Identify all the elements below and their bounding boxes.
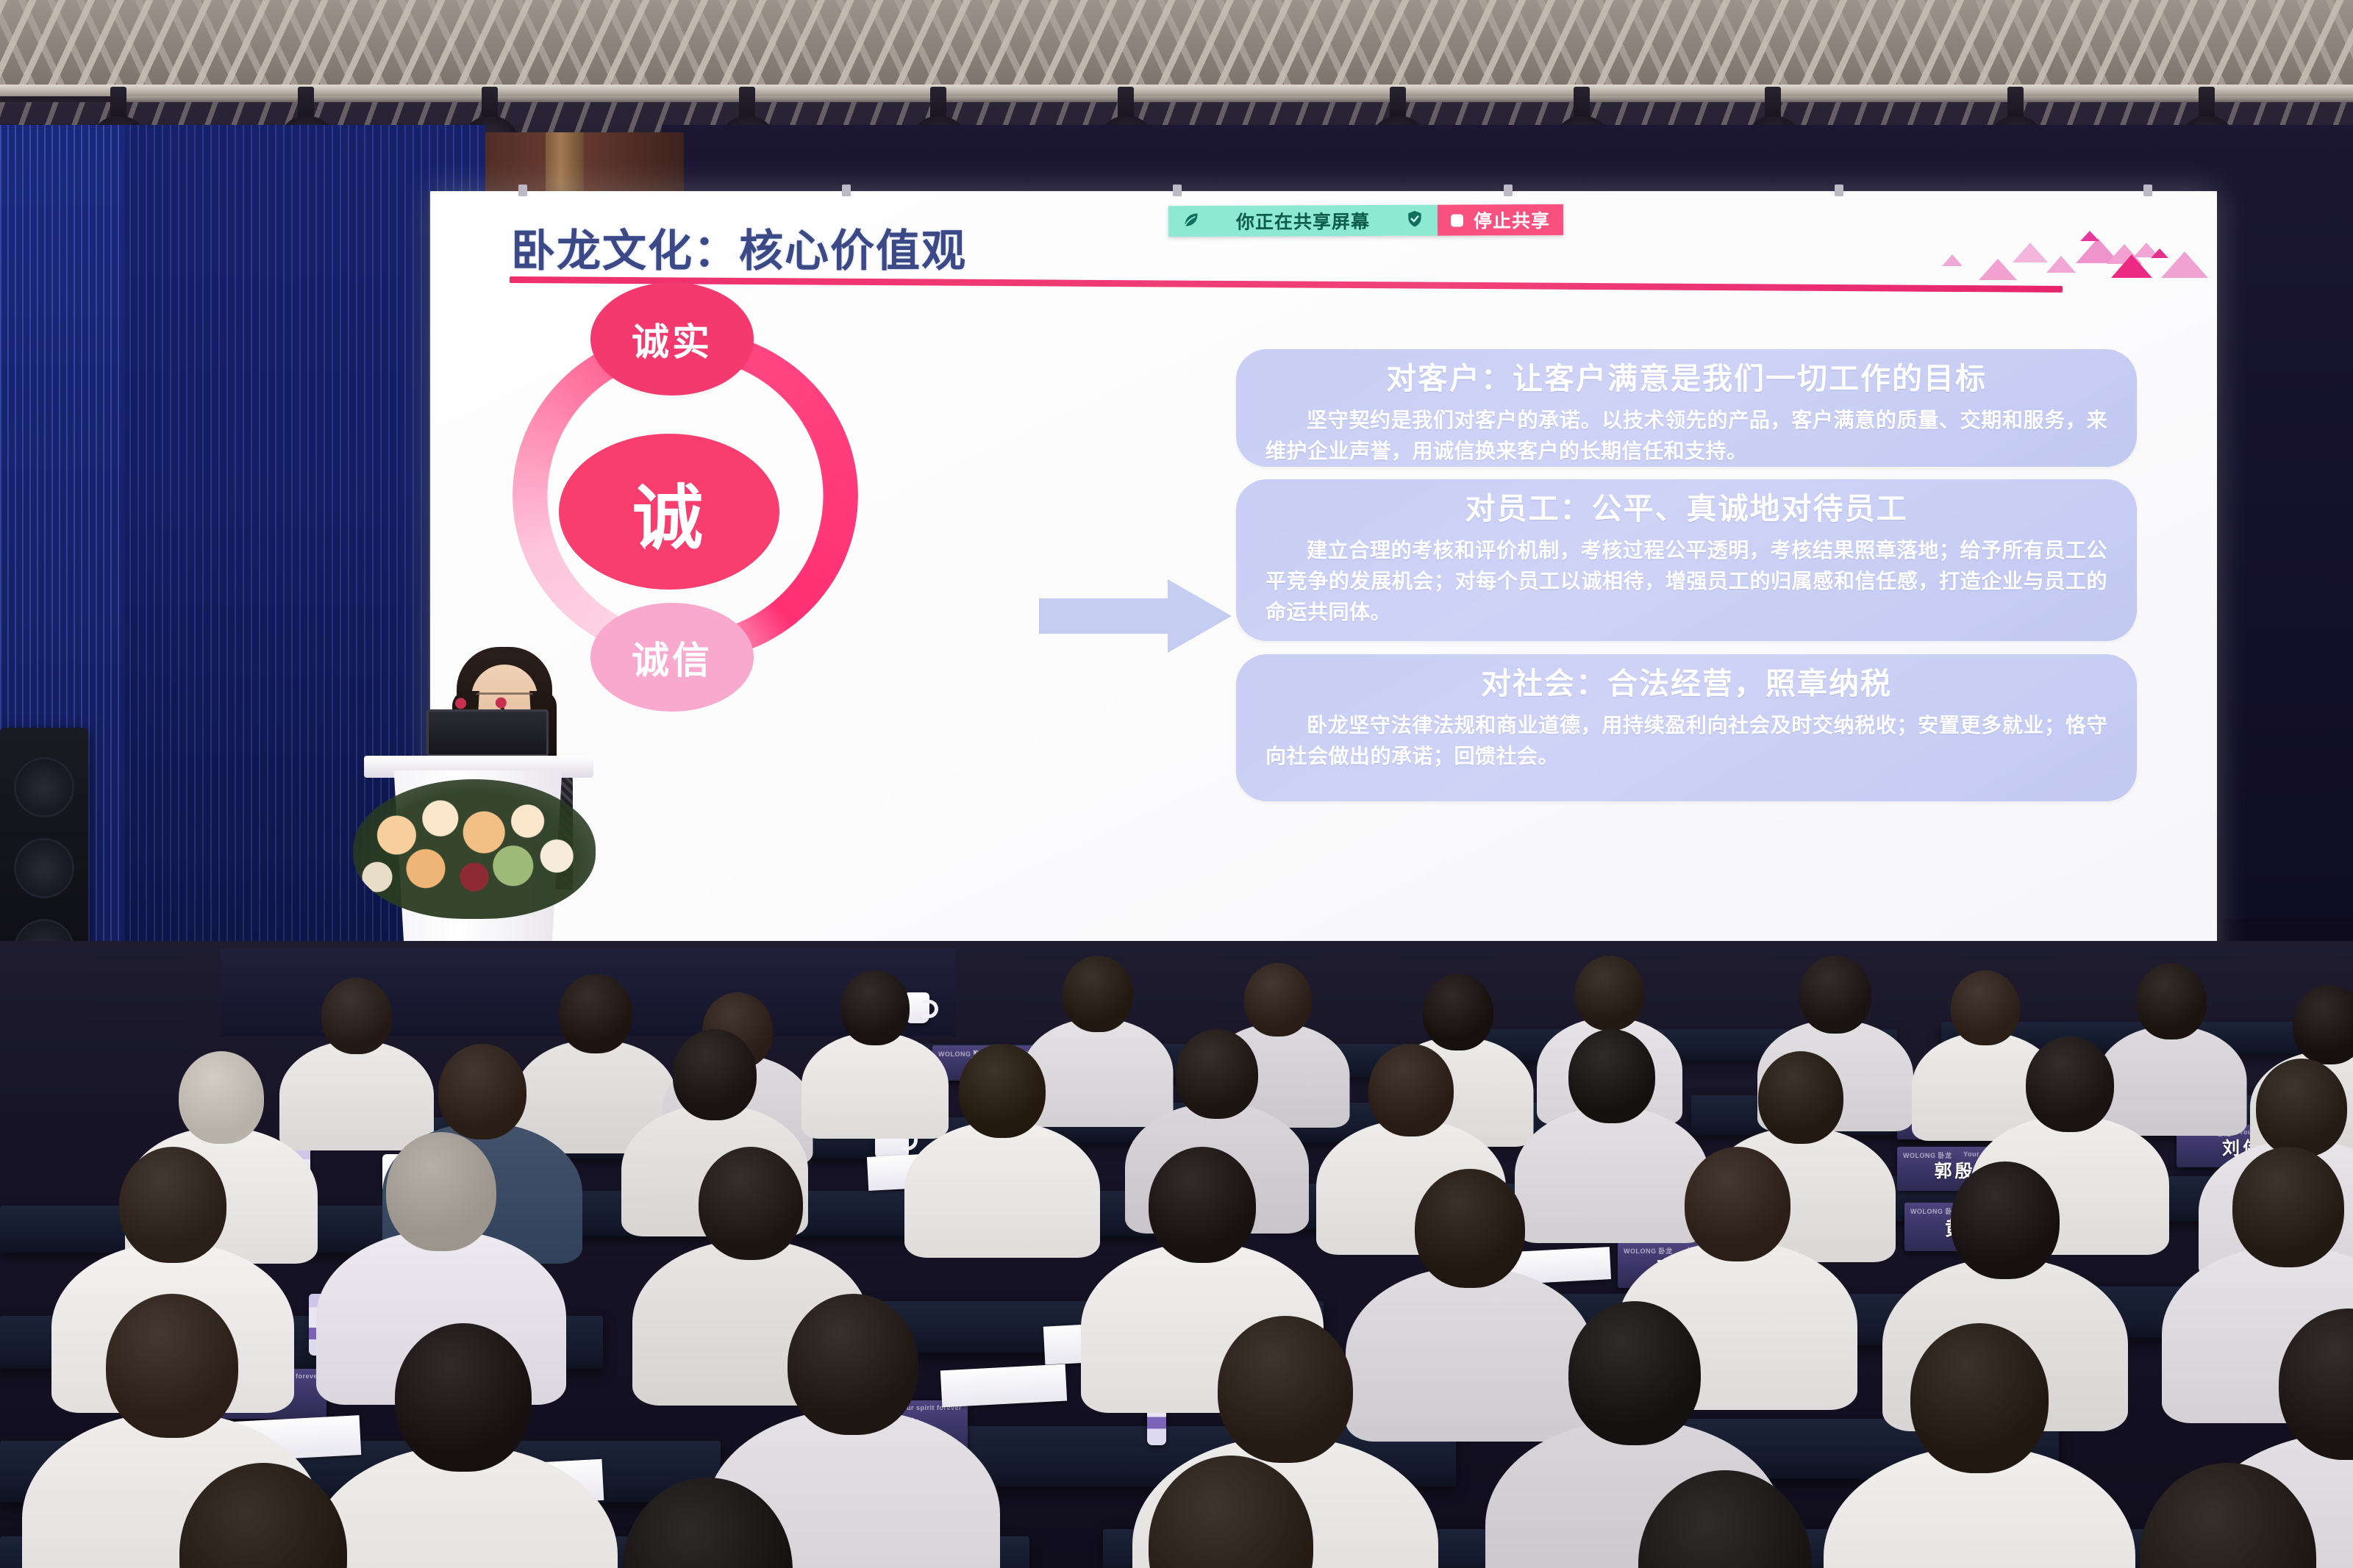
audience-member-head: [1218, 1316, 1353, 1463]
audience-member-head: [1176, 1029, 1258, 1119]
audience-member-head: [386, 1132, 496, 1251]
stop-square-icon: [1451, 214, 1463, 226]
audience-member-head: [1063, 956, 1133, 1032]
bubble-core-cheng: 诚: [559, 434, 779, 590]
audience-member-head: [1244, 963, 1312, 1037]
audience-member-head: [438, 1044, 526, 1139]
audience-member-head: [2256, 1059, 2347, 1157]
decorative-triangle: [2046, 256, 2076, 273]
decorative-triangle: [1942, 254, 1963, 266]
value-box-heading: 对社会：合法经营，照章纳税: [1265, 662, 2107, 707]
share-status-label: 你正在共享屏幕: [1211, 207, 1395, 235]
value-box-body: 建立合理的考核和评价机制，考核过程公平透明，考核结果照章落地；给予所有员工公平竞…: [1265, 535, 2107, 628]
screen-share-toolbar[interactable]: 你正在共享屏幕 停止共享: [1168, 204, 1563, 237]
audience-member-head: [2140, 1463, 2316, 1568]
share-status-segment: 你正在共享屏幕: [1168, 205, 1438, 237]
audience-member-head: [1149, 1456, 1313, 1568]
audience-member-head: [1575, 956, 1644, 1031]
audience-member-head: [2293, 985, 2353, 1064]
value-box-heading: 对员工：公平、真诚地对待员工: [1265, 487, 2107, 532]
decorative-triangle: [2013, 243, 2048, 262]
decorative-triangle: [2080, 231, 2099, 241]
audience-member: [904, 1044, 1100, 1275]
audience-member-head: [1568, 1029, 1655, 1123]
decorative-triangles: [1936, 229, 2201, 287]
audience-member-head: [2279, 1309, 2353, 1460]
audience-member-head: [1415, 1169, 1525, 1288]
audience-member-head: [106, 1294, 238, 1438]
bubble-honesty: 诚实: [590, 282, 754, 395]
title-underline: [510, 276, 2063, 293]
value-box-customers: 对客户：让客户满意是我们一切工作的目标 坚守契约是我们对客户的承诺。以技术领先的…: [1236, 349, 2137, 467]
projection-screen: 卧龙文化：核心价值观 诚实 诚 诚信 对客户：让客户满意是我们一切工作的目标 坚…: [430, 191, 2217, 1013]
audience-member-head: [699, 1147, 803, 1260]
bubble-integrity: 诚信: [590, 603, 754, 712]
audience-member-head: [119, 1147, 226, 1263]
audience-member-torso: [904, 1121, 1100, 1258]
audience-member-head: [2232, 1147, 2344, 1267]
stop-share-label: 停止共享: [1474, 207, 1550, 233]
audience-member-head: [622, 1478, 793, 1568]
audience-member-head: [321, 978, 392, 1054]
value-box-employees: 对员工：公平、真诚地对待员工 建立合理的考核和评价机制，考核过程公平透明，考核结…: [1236, 479, 2137, 641]
value-box-society: 对社会：合法经营，照章纳税 卧龙坚守法律法规和商业道德，用持续盈利向社会及时交纳…: [1236, 654, 2137, 801]
value-box-heading: 对客户：让客户满意是我们一切工作的目标: [1265, 357, 2107, 402]
audience-member: [1044, 1456, 1418, 1568]
audience-member-head: [788, 1294, 918, 1435]
audience-member-head: [1951, 970, 2020, 1045]
audience-member-head: [1685, 1147, 1790, 1261]
flower-arrangement: [353, 779, 596, 919]
decorative-triangle: [2161, 251, 2208, 278]
audience-member-head: [1910, 1323, 2049, 1473]
audience-member-head: [395, 1323, 532, 1472]
conference-photo: 卧龙文化：核心价值观 诚实 诚 诚信 对客户：让客户满意是我们一切工作的目标 坚…: [0, 0, 2353, 1568]
right-arrow-icon: [1039, 576, 1232, 656]
audience-member-head: [1368, 1044, 1454, 1136]
audience-member-head: [2026, 1037, 2114, 1132]
audience-member-head: [673, 1029, 757, 1120]
audience-member: [515, 1478, 900, 1568]
audience-member-head: [1951, 1161, 2060, 1279]
shield-check-icon[interactable]: [1405, 209, 1424, 232]
audience-member: [1529, 1470, 1921, 1568]
value-box-body: 卧龙坚守法律法规和商业道德，用持续盈利向社会及时交纳税收；安置更多就业；恪守向社…: [1265, 710, 2107, 772]
audience-member-head: [179, 1463, 347, 1568]
presenter-laptop: [426, 709, 549, 756]
audience-member-head: [1568, 1301, 1701, 1445]
leaf-icon: [1182, 210, 1201, 232]
audience-member-head: [1799, 956, 1871, 1034]
audience-member-head: [1149, 1147, 1256, 1263]
value-box-body: 坚守契约是我们对客户的承诺。以技术领先的产品，客户满意的质量、交期和服务，来维护…: [1265, 405, 2107, 467]
audience-member: [74, 1463, 453, 1568]
audience-member-head: [1638, 1470, 1812, 1568]
truss-beam: [0, 0, 2353, 92]
page-title: 卧龙文化：核心价值观: [511, 215, 967, 279]
audience-member-head: [1758, 1051, 1843, 1144]
audience-member-head: [840, 970, 910, 1045]
audience-member-head: [179, 1051, 264, 1144]
decorative-triangle: [2111, 254, 2152, 278]
audience-member-head: [959, 1044, 1046, 1138]
audience-member: [2294, 1441, 2353, 1568]
stop-share-button[interactable]: 停止共享: [1438, 204, 1563, 236]
decorative-triangle: [1979, 259, 2017, 280]
audience-member-head: [2136, 963, 2207, 1039]
audience-member-head: [1423, 974, 1493, 1050]
